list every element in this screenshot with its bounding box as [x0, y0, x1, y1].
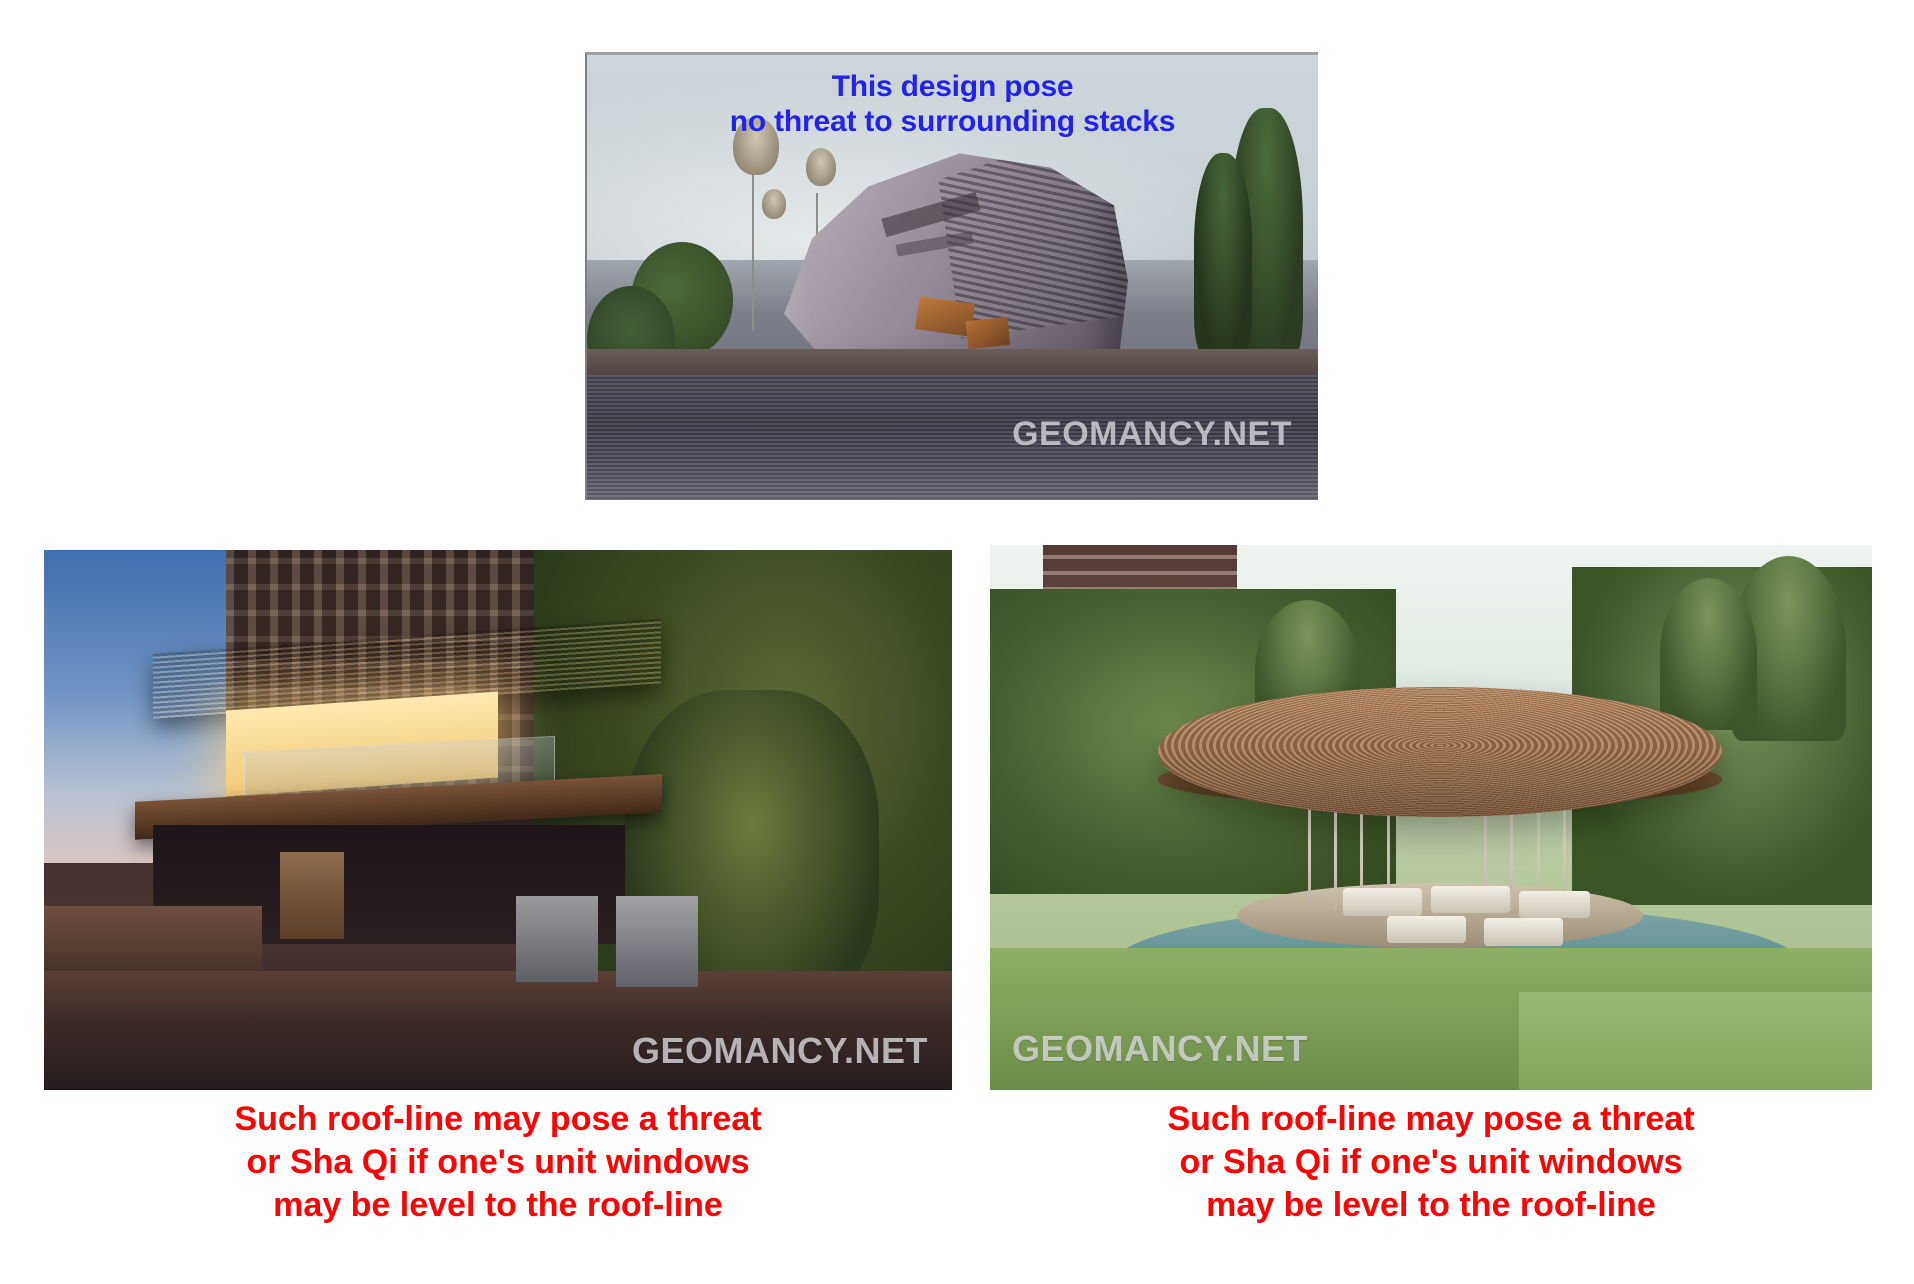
- lawn-right: [1519, 992, 1872, 1090]
- left-image-caption: Such roof-line may pose a threat or Sha …: [44, 1098, 952, 1226]
- building-facet-4: [965, 316, 1010, 349]
- plant-stem-1: [752, 171, 754, 331]
- entrance-door: [280, 852, 344, 938]
- palm-tree-right-2: [1194, 153, 1252, 358]
- palm-tree-2: [1660, 578, 1757, 731]
- pool-water: [587, 375, 1318, 500]
- plant-bloom-3: [762, 189, 786, 219]
- left-rendering-image[interactable]: GEOMANCY.NET: [44, 550, 952, 1090]
- slide-canvas: This design pose no threat to surroundin…: [0, 0, 1914, 1284]
- building-facet-1: [882, 192, 982, 237]
- plant-bloom-1: [733, 117, 779, 175]
- lounge-seat-2: [1431, 886, 1510, 913]
- paved-ground: [44, 971, 952, 1090]
- lounge-seat-1: [1343, 888, 1422, 915]
- lounge-seat-3: [1519, 891, 1590, 918]
- planter-box-2: [616, 896, 698, 988]
- plant-bloom-2: [806, 148, 836, 186]
- planter-box-1: [516, 896, 598, 982]
- top-rendering-image[interactable]: This design pose no threat to surroundin…: [585, 52, 1318, 500]
- right-image-caption: Such roof-line may pose a threat or Sha …: [990, 1098, 1872, 1226]
- lounge-seat-5: [1484, 918, 1563, 945]
- right-rendering-image[interactable]: GEOMANCY.NET: [990, 545, 1872, 1090]
- lounge-seat-4: [1387, 916, 1466, 943]
- oval-disc-roof: [1158, 687, 1722, 818]
- building-facet-2: [896, 232, 974, 257]
